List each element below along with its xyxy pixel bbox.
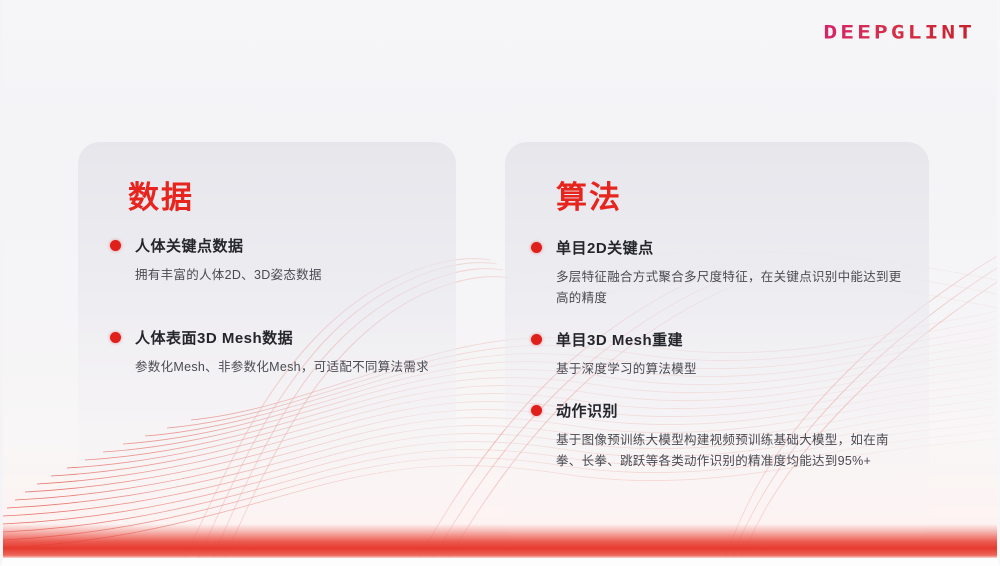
slide-root: 数据 人体关键点数据 拥有丰富的人体2D、3D姿态数据 人体表面3D Mesh数… [0, 0, 1000, 566]
bullet-dot-icon [110, 332, 121, 343]
slide-canvas: 数据 人体关键点数据 拥有丰富的人体2D、3D姿态数据 人体表面3D Mesh数… [3, 2, 997, 558]
data-panel-title: 数据 [128, 182, 194, 213]
bullet-dot-icon [531, 334, 542, 345]
algorithm-bullet-2: 单目3D Mesh重建 基于深度学习的算法模型 [531, 329, 908, 380]
deepglint-logo-text: DEEPGLINT [823, 22, 975, 43]
algorithm-bullet-2-desc: 基于深度学习的算法模型 [556, 359, 908, 380]
content-panels: 数据 人体关键点数据 拥有丰富的人体2D、3D姿态数据 人体表面3D Mesh数… [3, 2, 997, 558]
data-bullet-2-head: 人体表面3D Mesh数据 [110, 327, 445, 348]
data-bullet-2-title: 人体表面3D Mesh数据 [135, 327, 293, 348]
algorithm-bullet-1: 单目2D关键点 多层特征融合方式聚合多尺度特征，在关键点识别中能达到更高的精度 [531, 237, 908, 308]
algorithm-bullet-3-title: 动作识别 [556, 400, 618, 421]
algorithm-bullet-2-title: 单目3D Mesh重建 [556, 329, 683, 350]
algorithm-panel-title: 算法 [556, 182, 622, 213]
data-bullet-1-head: 人体关键点数据 [110, 235, 445, 256]
algorithm-bullet-1-title: 单目2D关键点 [556, 237, 654, 258]
data-bullet-2-desc: 参数化Mesh、非参数化Mesh，可适配不同算法需求 [135, 357, 445, 378]
data-bullet-2: 人体表面3D Mesh数据 参数化Mesh、非参数化Mesh，可适配不同算法需求 [110, 327, 445, 378]
algorithm-bullet-1-head: 单目2D关键点 [531, 237, 908, 258]
algorithm-bullet-3: 动作识别 基于图像预训练大模型构建视频预训练基础大模型，如在南拳、长拳、跳跃等各… [531, 400, 908, 471]
algorithm-bullet-1-desc: 多层特征融合方式聚合多尺度特征，在关键点识别中能达到更高的精度 [556, 267, 908, 308]
algorithm-bullet-3-desc: 基于图像预训练大模型构建视频预训练基础大模型，如在南拳、长拳、跳跃等各类动作识别… [556, 430, 908, 471]
data-bullet-1: 人体关键点数据 拥有丰富的人体2D、3D姿态数据 [110, 235, 445, 286]
bullet-dot-icon [531, 242, 542, 253]
deepglint-logo: DEEPGLINT [823, 20, 975, 46]
data-bullet-1-desc: 拥有丰富的人体2D、3D姿态数据 [135, 265, 445, 286]
bullet-dot-icon [531, 405, 542, 416]
data-bullet-1-title: 人体关键点数据 [135, 235, 244, 256]
bullet-dot-icon [110, 240, 121, 251]
algorithm-bullet-3-head: 动作识别 [531, 400, 908, 421]
algorithm-bullet-2-head: 单目3D Mesh重建 [531, 329, 908, 350]
